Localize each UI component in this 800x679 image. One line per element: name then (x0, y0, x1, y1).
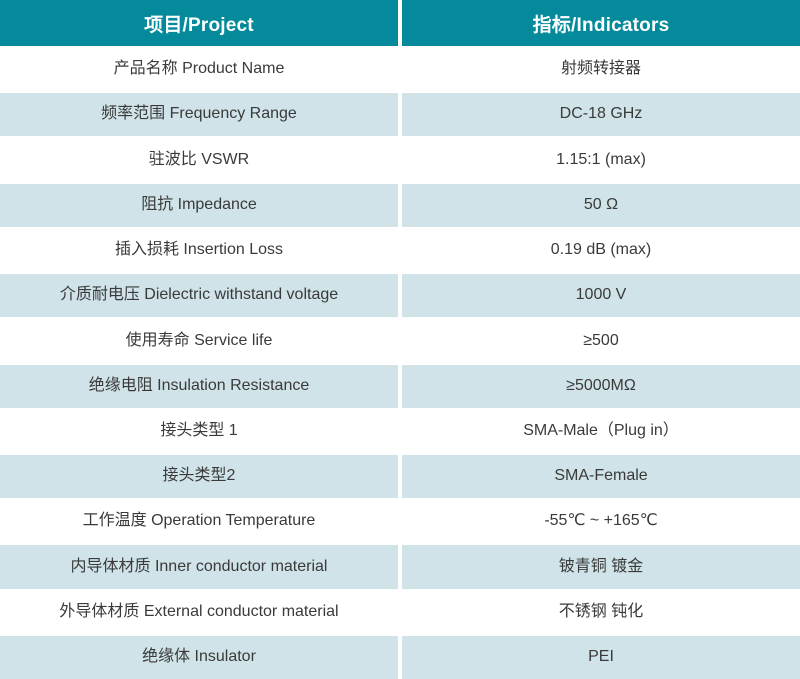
table-row: 外导体材质 External conductor material不锈钢 钝化 (0, 591, 800, 634)
cell-indicator: 铍青铜 镀金 (402, 545, 800, 588)
table-row: 介质耐电压 Dielectric withstand voltage1000 V (0, 274, 800, 317)
cell-project: 驻波比 VSWR (0, 138, 398, 181)
table-row: 阻抗 Impedance50 Ω (0, 184, 800, 227)
cell-project: 产品名称 Product Name (0, 48, 398, 91)
table-row: 插入损耗 Insertion Loss0.19 dB (max) (0, 229, 800, 272)
cell-indicator: PEI (402, 636, 800, 679)
cell-indicator: DC-18 GHz (402, 93, 800, 136)
cell-project: 接头类型 1 (0, 410, 398, 453)
table-row: 频率范围 Frequency RangeDC-18 GHz (0, 93, 800, 136)
table-header-row: 项目/Project 指标/Indicators (0, 0, 800, 46)
cell-indicator: SMA-Female (402, 455, 800, 498)
table-row: 绝缘体 InsulatorPEI (0, 636, 800, 679)
cell-indicator: 0.19 dB (max) (402, 229, 800, 272)
table-row: 工作温度 Operation Temperature-55℃ ~ +165℃ (0, 500, 800, 543)
cell-project: 接头类型2 (0, 455, 398, 498)
cell-project: 外导体材质 External conductor material (0, 591, 398, 634)
cell-project: 阻抗 Impedance (0, 184, 398, 227)
table-row: 使用寿命 Service life≥500 (0, 319, 800, 362)
table-row: 驻波比 VSWR1.15:1 (max) (0, 138, 800, 181)
table-row: 内导体材质 Inner conductor material铍青铜 镀金 (0, 545, 800, 588)
table-row: 接头类型 1SMA-Male（Plug in） (0, 410, 800, 453)
cell-indicator: 不锈钢 钝化 (402, 591, 800, 634)
cell-project: 介质耐电压 Dielectric withstand voltage (0, 274, 398, 317)
cell-indicator: 50 Ω (402, 184, 800, 227)
cell-indicator: -55℃ ~ +165℃ (402, 500, 800, 543)
cell-project: 绝缘体 Insulator (0, 636, 398, 679)
cell-project: 频率范围 Frequency Range (0, 93, 398, 136)
cell-indicator: ≥5000MΩ (402, 365, 800, 408)
table-row: 接头类型2SMA-Female (0, 455, 800, 498)
cell-project: 使用寿命 Service life (0, 319, 398, 362)
column-header-indicators: 指标/Indicators (402, 0, 800, 46)
cell-project: 插入损耗 Insertion Loss (0, 229, 398, 272)
cell-project: 工作温度 Operation Temperature (0, 500, 398, 543)
cell-indicator: 1.15:1 (max) (402, 138, 800, 181)
cell-indicator: 1000 V (402, 274, 800, 317)
cell-project: 绝缘电阻 Insulation Resistance (0, 365, 398, 408)
cell-indicator: 射频转接器 (402, 48, 800, 91)
table-body: 产品名称 Product Name射频转接器频率范围 Frequency Ran… (0, 46, 800, 679)
cell-indicator: SMA-Male（Plug in） (402, 410, 800, 453)
table-row: 产品名称 Product Name射频转接器 (0, 48, 800, 91)
specification-table: 项目/Project 指标/Indicators 产品名称 Product Na… (0, 0, 800, 679)
column-header-project: 项目/Project (0, 0, 398, 46)
cell-indicator: ≥500 (402, 319, 800, 362)
table-row: 绝缘电阻 Insulation Resistance≥5000MΩ (0, 365, 800, 408)
cell-project: 内导体材质 Inner conductor material (0, 545, 398, 588)
